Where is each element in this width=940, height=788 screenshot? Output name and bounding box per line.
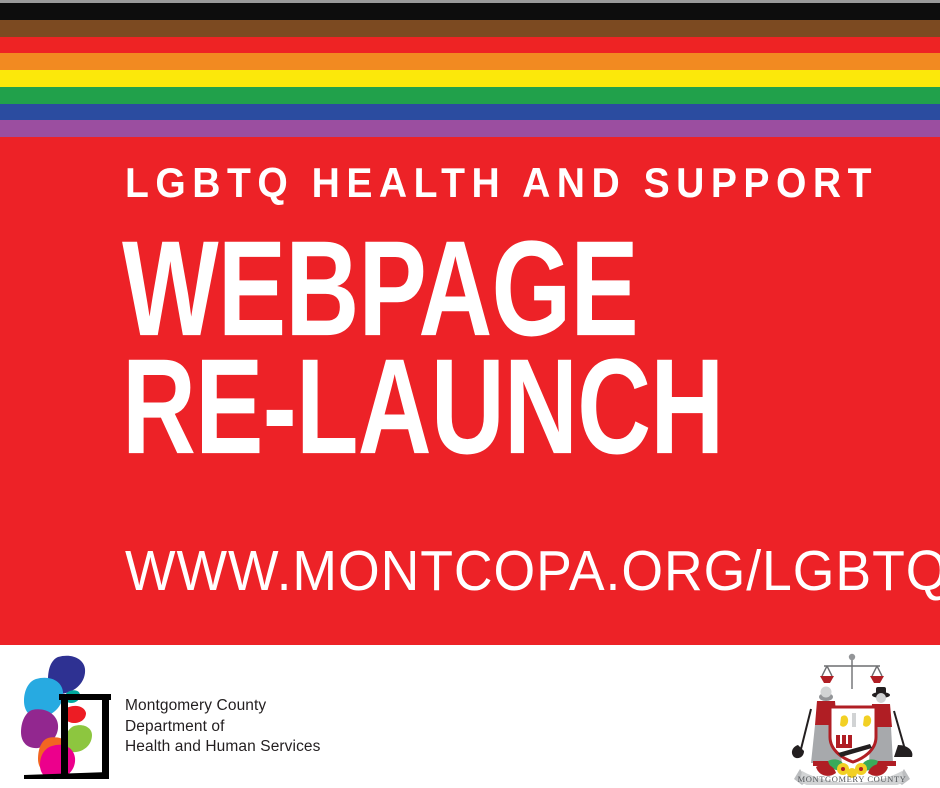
main-red-panel: LGBTQ HEALTH AND SUPPORT WEBPAGE RE-LAUN… bbox=[0, 137, 940, 645]
stripe-purple bbox=[0, 120, 940, 137]
montgomery-county-hhs-doorway-logo-icon bbox=[12, 653, 122, 781]
lgbtq-webpage-relaunch-poster: LGBTQ HEALTH AND SUPPORT WEBPAGE RE-LAUN… bbox=[0, 0, 940, 788]
stripe-black bbox=[0, 3, 940, 20]
pride-flag-stripe-band bbox=[0, 0, 940, 137]
stripe-blue bbox=[0, 104, 940, 121]
headline-line-2: RE-LAUNCH bbox=[122, 345, 723, 470]
stripe-red bbox=[0, 37, 940, 54]
footer-bar: Montgomery County Department of Health a… bbox=[0, 645, 940, 788]
eyebrow-heading: LGBTQ HEALTH AND SUPPORT bbox=[125, 162, 878, 204]
hhs-wordmark: Montgomery County Department of Health a… bbox=[125, 696, 321, 758]
montgomery-county-coat-of-arms-seal-icon: MONTGOMERY COUNTY 1784 bbox=[786, 649, 918, 785]
stripe-brown bbox=[0, 20, 940, 37]
stripe-orange bbox=[0, 53, 940, 70]
hhs-wordmark-line-1: Montgomery County bbox=[125, 696, 321, 717]
hhs-logo-lockup: Montgomery County Department of Health a… bbox=[12, 653, 312, 783]
seal-banner-text: MONTGOMERY COUNTY bbox=[798, 774, 907, 784]
website-url[interactable]: WWW.MONTCOPA.ORG/LGBTQ bbox=[125, 543, 940, 600]
stripe-green bbox=[0, 87, 940, 104]
hhs-wordmark-line-2: Department of bbox=[125, 717, 321, 738]
hhs-wordmark-line-3: Health and Human Services bbox=[125, 737, 321, 758]
stripe-yellow bbox=[0, 70, 940, 87]
